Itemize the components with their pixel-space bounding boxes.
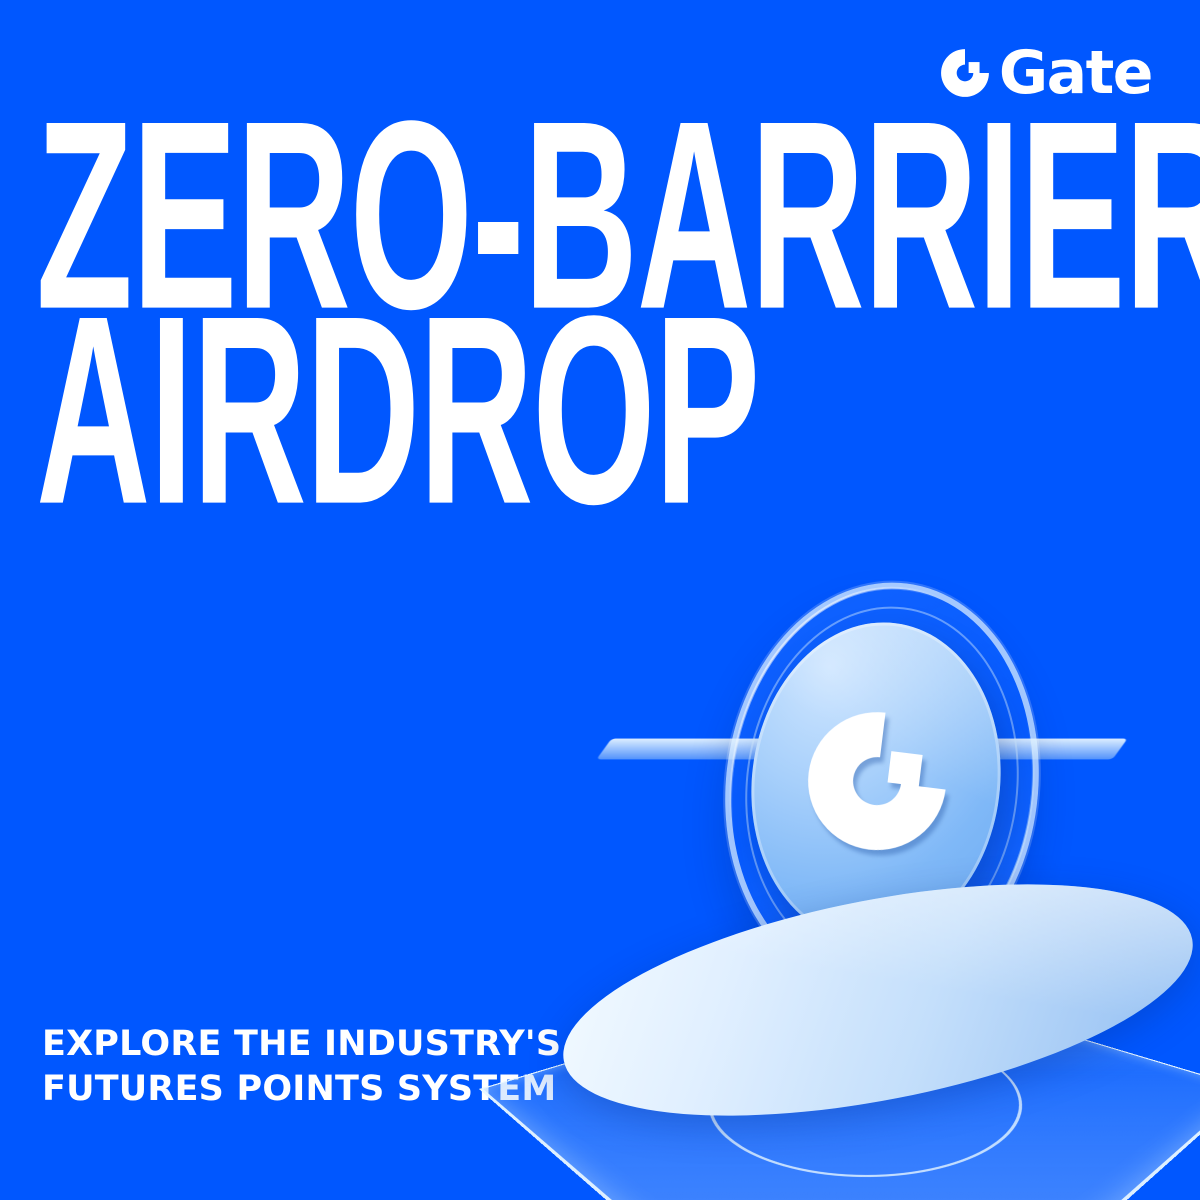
gate-logo-emblem-icon <box>794 698 961 865</box>
headline-line-2: AIRDROP <box>36 305 1200 514</box>
promo-banner: Gate ZERO-BARRIER AIRDROP EXPLORE THE IN… <box>0 0 1200 1200</box>
page-title: ZERO-BARRIER AIRDROP <box>36 110 1200 506</box>
gate-3d-glass-coin-illustration <box>540 560 1200 1140</box>
